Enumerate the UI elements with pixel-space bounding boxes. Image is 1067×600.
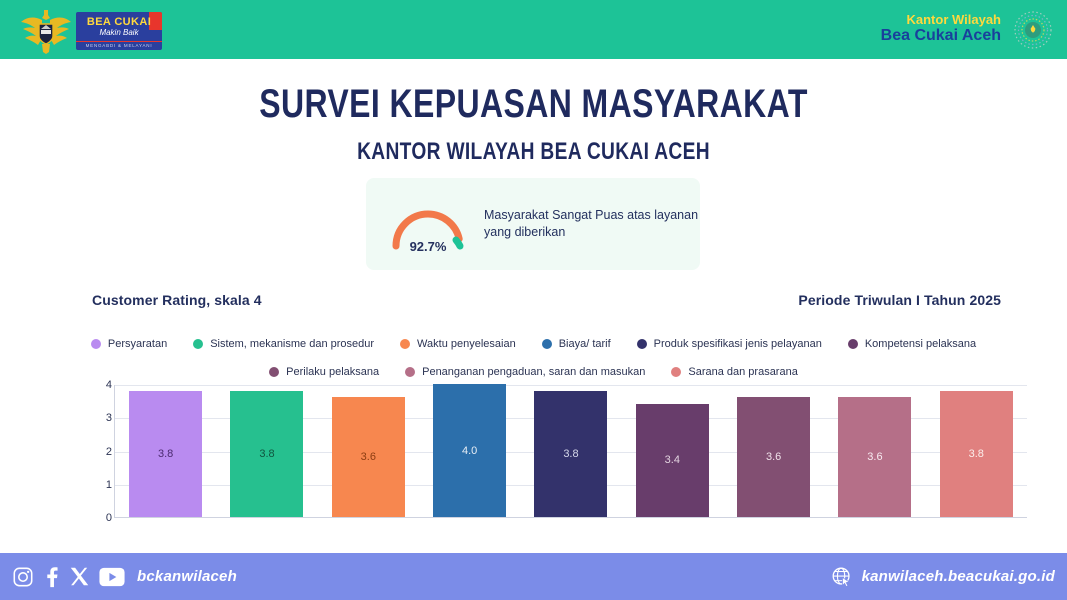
chart-legend: PersyaratanSistem, mekanisme dan prosedu… bbox=[0, 334, 1067, 382]
bar-slot: 3.8 bbox=[926, 385, 1027, 517]
bar-slot: 4.0 bbox=[419, 385, 520, 517]
legend-item[interactable]: Sistem, mekanisme dan prosedur bbox=[193, 338, 374, 350]
bar-value-label: 4.0 bbox=[462, 445, 477, 457]
legend-label: Kompetensi pelaksana bbox=[865, 338, 976, 350]
youtube-icon[interactable] bbox=[99, 567, 125, 587]
bar[interactable]: 3.8 bbox=[534, 391, 607, 517]
customer-rating-label: Customer Rating, skala 4 bbox=[92, 292, 262, 308]
bar-value-label: 3.4 bbox=[665, 454, 680, 466]
page-subtitle: KANTOR WILAYAH BEA CUKAI ACEH bbox=[107, 138, 961, 166]
legend-label: Biaya/ tarif bbox=[559, 338, 611, 350]
legend-label: Sistem, mekanisme dan prosedur bbox=[210, 338, 374, 350]
instagram-icon[interactable] bbox=[12, 566, 34, 588]
bar-value-label: 3.8 bbox=[969, 448, 984, 460]
website-url: kanwilaceh.beacukai.go.id bbox=[862, 568, 1055, 585]
bar[interactable]: 3.6 bbox=[332, 397, 405, 517]
office-name-line2: Bea Cukai Aceh bbox=[881, 27, 1001, 45]
satisfaction-card: 92.7% Masyarakat Sangat Puas atas layana… bbox=[366, 178, 700, 270]
header-bar: BEA CUKAI Makin Baik MENGABDI & MELAYANI… bbox=[0, 0, 1067, 59]
bar[interactable]: 3.8 bbox=[940, 391, 1013, 517]
legend-item[interactable]: Sarana dan prasarana bbox=[671, 366, 797, 378]
page-title: SURVEI KEPUASAN MASYARAKAT bbox=[107, 82, 961, 127]
legend-color-swatch bbox=[542, 339, 552, 349]
legend-color-swatch bbox=[193, 339, 203, 349]
logo-text-primary: BEA CUKAI bbox=[87, 17, 151, 28]
legend-color-swatch bbox=[637, 339, 647, 349]
rating-bar-chart: 01234 3.83.83.64.03.83.43.63.63.8 bbox=[92, 385, 1027, 525]
footer-social-group: bckanwilaceh bbox=[12, 553, 237, 600]
y-axis: 01234 bbox=[92, 385, 112, 518]
globe-cursor-icon[interactable] bbox=[831, 566, 853, 588]
y-axis-tick: 4 bbox=[92, 379, 112, 391]
legend-label: Penanganan pengaduan, saran dan masukan bbox=[422, 366, 645, 378]
legend-label: Produk spesifikasi jenis pelayanan bbox=[654, 338, 822, 350]
bar-value-label: 3.8 bbox=[563, 448, 578, 460]
legend-row-2: Perilaku pelaksanaPenanganan pengaduan, … bbox=[0, 362, 1067, 382]
legend-color-swatch bbox=[269, 367, 279, 377]
y-axis-tick: 1 bbox=[92, 479, 112, 491]
footer-website-group: kanwilaceh.beacukai.go.id bbox=[831, 553, 1055, 600]
bar[interactable]: 3.4 bbox=[636, 404, 709, 517]
social-handle: bckanwilaceh bbox=[137, 568, 237, 585]
bar-value-label: 3.8 bbox=[259, 448, 274, 460]
legend-row-1: PersyaratanSistem, mekanisme dan prosedu… bbox=[0, 334, 1067, 354]
footer-bar: bckanwilaceh kanwilaceh.beacukai.go.id bbox=[0, 553, 1067, 600]
legend-label: Sarana dan prasarana bbox=[688, 366, 797, 378]
legend-color-swatch bbox=[400, 339, 410, 349]
bar-slot: 3.8 bbox=[520, 385, 621, 517]
bar[interactable]: 3.8 bbox=[230, 391, 303, 517]
aceh-ornament-icon bbox=[1009, 10, 1057, 50]
legend-item[interactable]: Biaya/ tarif bbox=[542, 338, 611, 350]
satisfaction-percent: 92.7% bbox=[386, 239, 470, 254]
bar-slot: 3.6 bbox=[824, 385, 925, 517]
period-label: Periode Triwulan I Tahun 2025 bbox=[798, 292, 1001, 308]
bar-value-label: 3.6 bbox=[766, 451, 781, 463]
bar[interactable]: 4.0 bbox=[433, 384, 506, 517]
legend-color-swatch bbox=[405, 367, 415, 377]
bar-value-label: 3.8 bbox=[158, 448, 173, 460]
poster-root: BEA CUKAI Makin Baik MENGABDI & MELAYANI… bbox=[0, 0, 1067, 600]
legend-item[interactable]: Persyaratan bbox=[91, 338, 167, 350]
bar-slot: 3.6 bbox=[318, 385, 419, 517]
y-axis-tick: 3 bbox=[92, 412, 112, 424]
x-twitter-icon[interactable] bbox=[69, 566, 90, 587]
logo-text-secondary: Makin Baik bbox=[99, 28, 138, 37]
bar[interactable]: 3.8 bbox=[129, 391, 202, 517]
legend-item[interactable]: Perilaku pelaksana bbox=[269, 366, 379, 378]
legend-item[interactable]: Penanganan pengaduan, saran dan masukan bbox=[405, 366, 645, 378]
legend-item[interactable]: Waktu penyelesaian bbox=[400, 338, 516, 350]
legend-color-swatch bbox=[848, 339, 858, 349]
bar[interactable]: 3.6 bbox=[838, 397, 911, 517]
logo-tagline: MENGABDI & MELAYANI bbox=[76, 41, 162, 50]
facebook-icon[interactable] bbox=[43, 566, 60, 588]
bar[interactable]: 3.6 bbox=[737, 397, 810, 517]
bar-slot: 3.4 bbox=[622, 385, 723, 517]
office-name-block: Kantor Wilayah Bea Cukai Aceh bbox=[881, 12, 1001, 45]
legend-color-swatch bbox=[671, 367, 681, 377]
bar-slot: 3.8 bbox=[216, 385, 317, 517]
bea-cukai-logo: BEA CUKAI Makin Baik MENGABDI & MELAYANI bbox=[76, 12, 162, 50]
legend-label: Persyaratan bbox=[108, 338, 167, 350]
satisfaction-gauge: 92.7% bbox=[386, 196, 470, 252]
x-axis-baseline bbox=[115, 517, 1027, 518]
bar-group: 3.83.83.64.03.83.43.63.63.8 bbox=[115, 385, 1027, 517]
bar-slot: 3.8 bbox=[115, 385, 216, 517]
bar-value-label: 3.6 bbox=[361, 451, 376, 463]
legend-label: Perilaku pelaksana bbox=[286, 366, 379, 378]
y-axis-tick: 2 bbox=[92, 446, 112, 458]
plot-area: 3.83.83.64.03.83.43.63.63.8 bbox=[114, 385, 1027, 518]
y-axis-tick: 0 bbox=[92, 512, 112, 524]
legend-item[interactable]: Produk spesifikasi jenis pelayanan bbox=[637, 338, 822, 350]
bar-slot: 3.6 bbox=[723, 385, 824, 517]
garuda-emblem-icon bbox=[18, 8, 74, 54]
legend-item[interactable]: Kompetensi pelaksana bbox=[848, 338, 976, 350]
satisfaction-description: Masyarakat Sangat Puas atas layanan yang… bbox=[484, 207, 699, 241]
legend-color-swatch bbox=[91, 339, 101, 349]
legend-label: Waktu penyelesaian bbox=[417, 338, 516, 350]
bar-value-label: 3.6 bbox=[867, 451, 882, 463]
office-name-line1: Kantor Wilayah bbox=[881, 12, 1001, 27]
